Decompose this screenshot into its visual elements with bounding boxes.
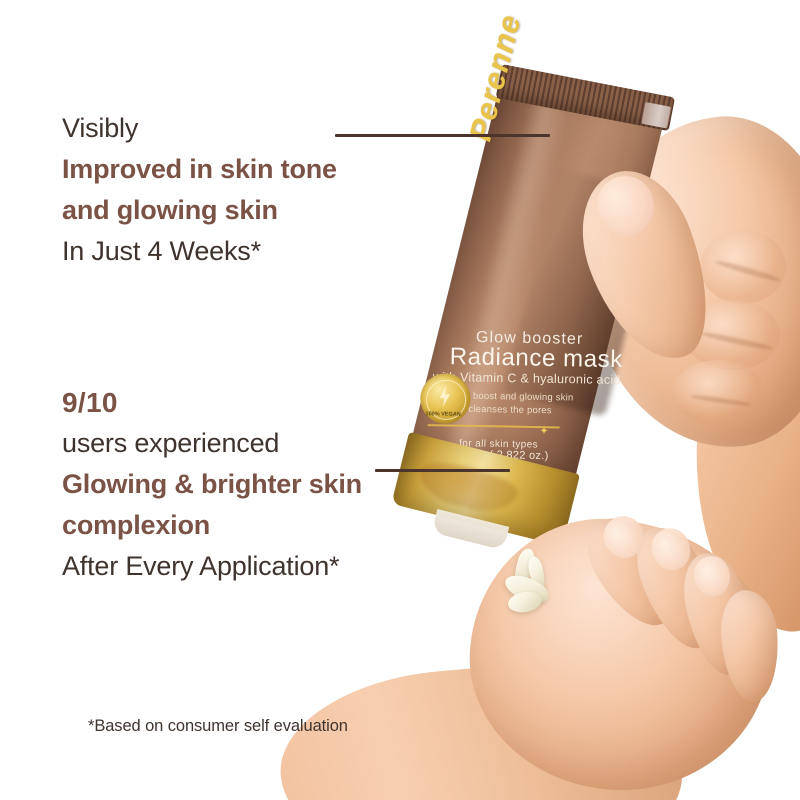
claim-line: complexion — [62, 505, 462, 546]
brand-name: Perenne — [462, 10, 528, 144]
claim-line: users experienced — [62, 423, 462, 464]
claim-block-weeks: Visibly Improved in skin tone and glowin… — [62, 108, 462, 272]
product-descriptor: Glow booster — [476, 329, 584, 349]
hand-holding-tube — [573, 106, 800, 460]
cream-swatch — [504, 548, 566, 620]
product-name: Radiance mask — [449, 343, 623, 374]
fingernail — [596, 509, 652, 566]
claim-line: After Every Application* — [62, 546, 462, 587]
product-skin-types: for all skin types — [459, 438, 538, 450]
claim-line: Visibly — [62, 108, 462, 149]
claim-line: and glowing skin — [62, 190, 462, 231]
tube-shading — [504, 168, 661, 416]
knuckle — [672, 360, 764, 424]
finger — [624, 517, 729, 659]
claim-line: In Just 4 Weeks* — [62, 231, 462, 272]
fingernail — [690, 553, 734, 600]
disclaimer-footnote: *Based on consumer self evaluation — [88, 717, 348, 736]
skin-crease — [714, 259, 781, 284]
cream-stroke — [507, 589, 544, 615]
product-claim-graphic: Perenne Glow booster Radiance mask with … — [0, 0, 800, 800]
upper-forearm — [663, 284, 800, 645]
tube-crimp-edge — [641, 102, 671, 129]
claim-stat: 9/10 — [62, 383, 462, 423]
thumb — [562, 155, 731, 376]
claim-block-users: 9/10 users experienced Glowing & brighte… — [62, 383, 462, 587]
finger — [718, 588, 782, 704]
thumbnail — [589, 168, 663, 245]
claim-line: Improved in skin tone — [62, 149, 462, 190]
finger — [676, 547, 760, 681]
knuckle — [684, 300, 780, 370]
cream-stroke — [502, 570, 553, 608]
finger — [573, 504, 691, 640]
skin-crease — [690, 394, 752, 408]
palm-receiving-cream — [461, 510, 779, 800]
cream-stroke — [511, 547, 537, 590]
tube-crimp-seal — [496, 64, 675, 131]
knuckle — [700, 230, 786, 304]
claim-line: Glowing & brighter skin — [62, 464, 462, 505]
skin-crease — [700, 330, 774, 351]
fingernail — [646, 522, 697, 575]
sparkle-icon: ✦ — [539, 424, 548, 437]
cream-stroke — [526, 555, 548, 595]
